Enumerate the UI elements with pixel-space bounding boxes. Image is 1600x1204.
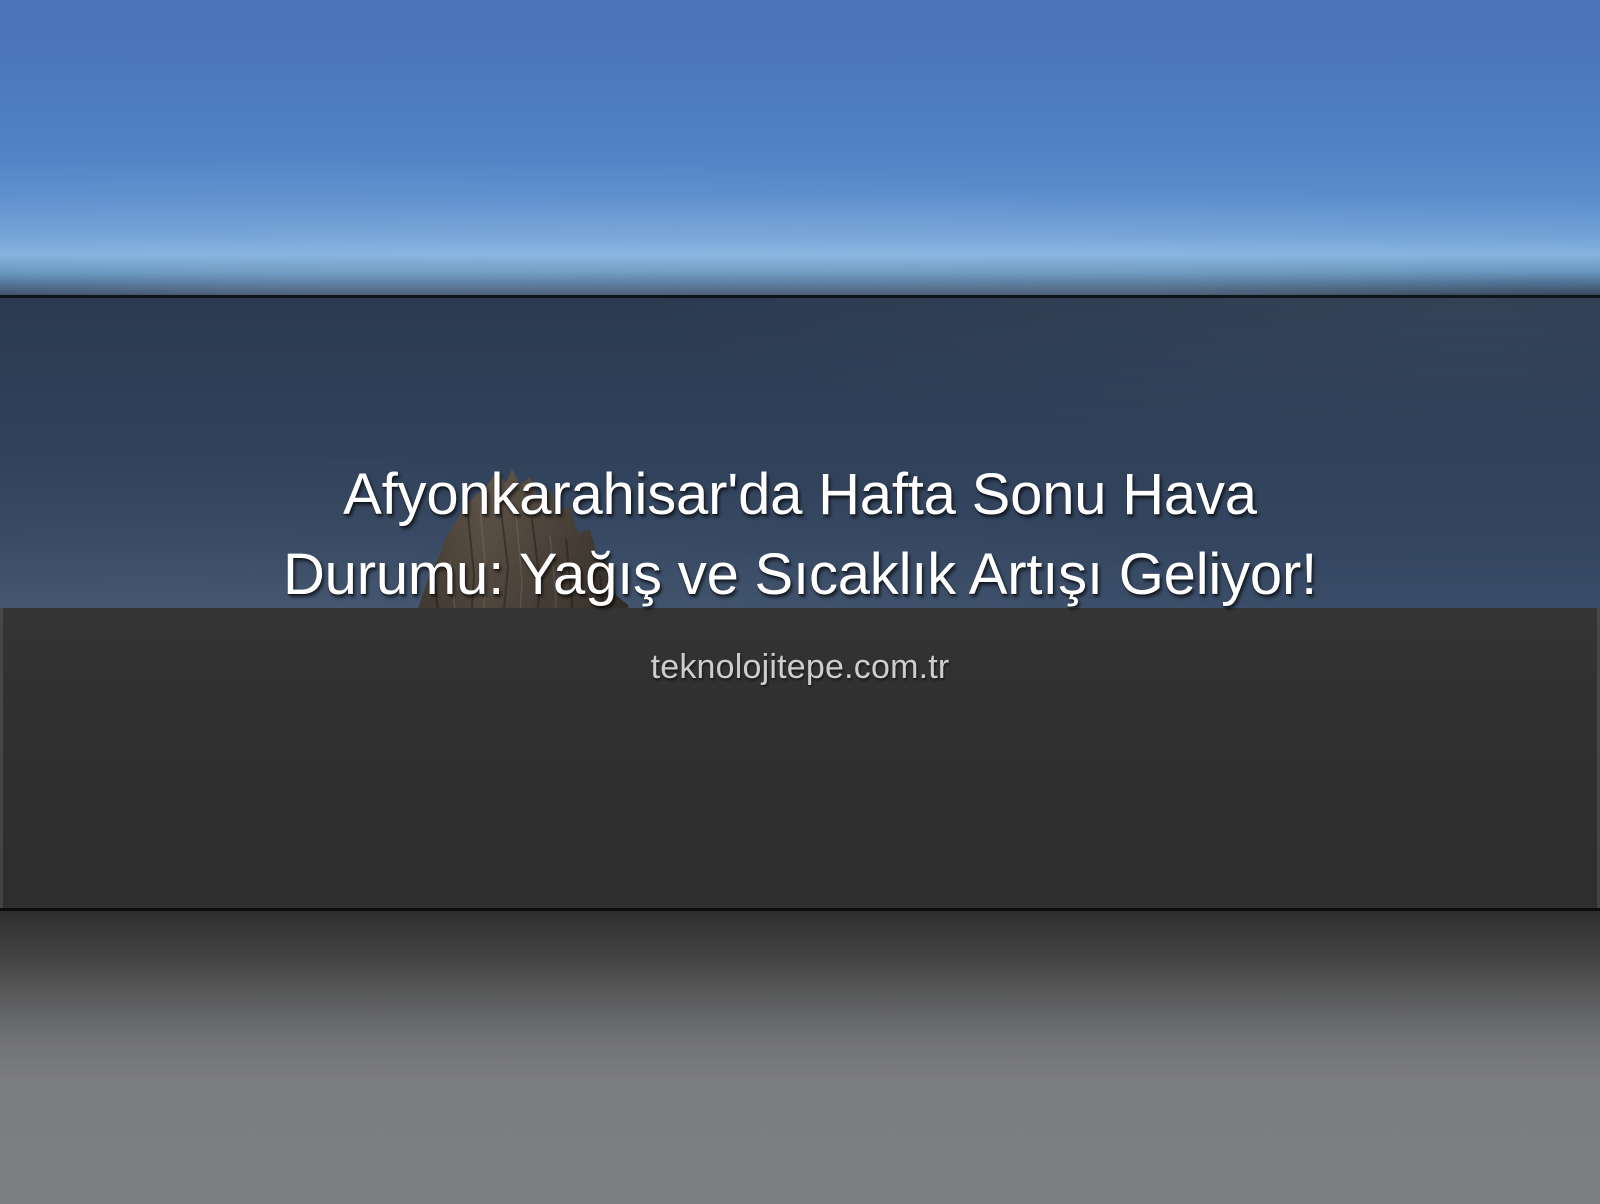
article-headline-line-1: Afyonkarahisar'da Hafta Sonu Hava	[0, 455, 1600, 535]
article-headline: Afyonkarahisar'da Hafta Sonu Hava Durumu…	[0, 455, 1600, 615]
share-card-stage: Afyonkarahisar'da Hafta Sonu Hava Durumu…	[0, 0, 1600, 1204]
sky-haze-overlay	[0, 0, 1600, 296]
footer-gray-area	[0, 911, 1600, 1204]
article-headline-line-2: Durumu: Yağış ve Sıcaklık Artışı Geliyor…	[0, 535, 1600, 615]
sky-background	[0, 0, 1600, 296]
source-site-label: teknolojitepe.com.tr	[0, 648, 1600, 687]
